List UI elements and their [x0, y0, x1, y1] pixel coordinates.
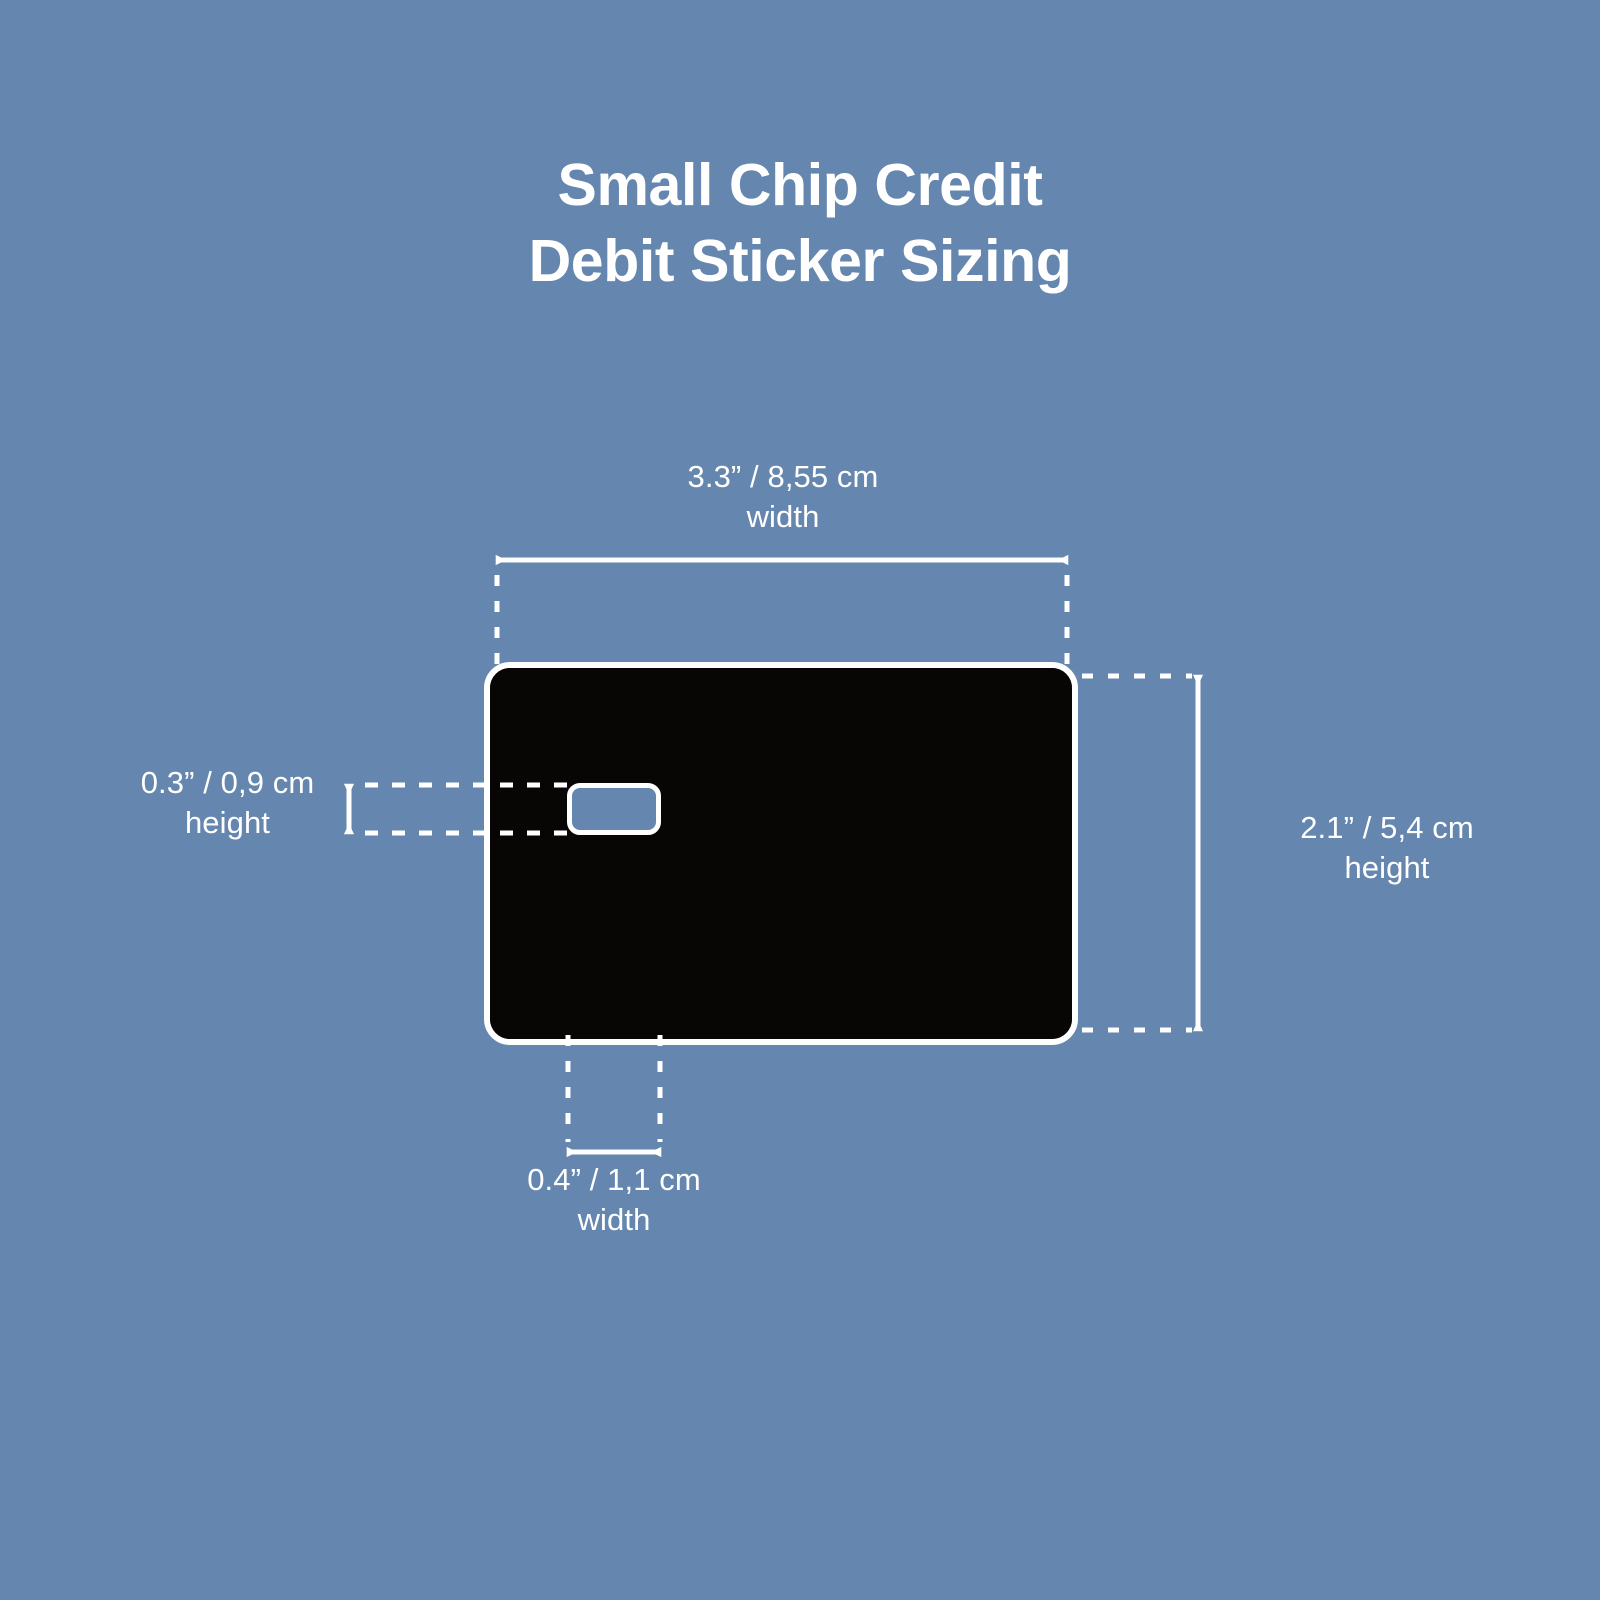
dimension-label-card-width-value: 3.3” / 8,55 cm: [688, 459, 879, 494]
dimension-label-chip-width-value: 0.4” / 1,1 cm: [527, 1162, 701, 1197]
dimension-label-chip-height-axis: height: [185, 805, 270, 840]
card-artwork: [490, 668, 1072, 1039]
chip-cutout-window: [567, 783, 661, 835]
page-title: Small Chip Credit Debit Sticker Sizing: [0, 148, 1600, 299]
dimension-label-card-width-axis: width: [747, 499, 820, 534]
dimension-label-card-height-axis: height: [1344, 850, 1429, 885]
dimension-chip-width: [568, 1035, 660, 1152]
dimension-card-width: [497, 560, 1067, 664]
dimension-label-chip-width: 0.4” / 1,1 cmwidth: [414, 1160, 814, 1239]
dimension-label-card-height-value: 2.1” / 5,4 cm: [1300, 810, 1474, 845]
dimension-label-chip-height: 0.3” / 0,9 cmheight: [130, 763, 325, 842]
dimension-label-card-height: 2.1” / 5,4 cmheight: [1222, 808, 1552, 887]
card-sticker-preview: [484, 662, 1078, 1045]
dimension-label-chip-width-axis: width: [578, 1202, 651, 1237]
sizing-diagram: Small Chip Credit Debit Sticker Sizing: [0, 0, 1600, 1600]
dimension-label-chip-height-value: 0.3” / 0,9 cm: [141, 765, 315, 800]
dimension-label-card-width: 3.3” / 8,55 cmwidth: [583, 457, 983, 536]
dimension-card-height: [1082, 676, 1198, 1030]
